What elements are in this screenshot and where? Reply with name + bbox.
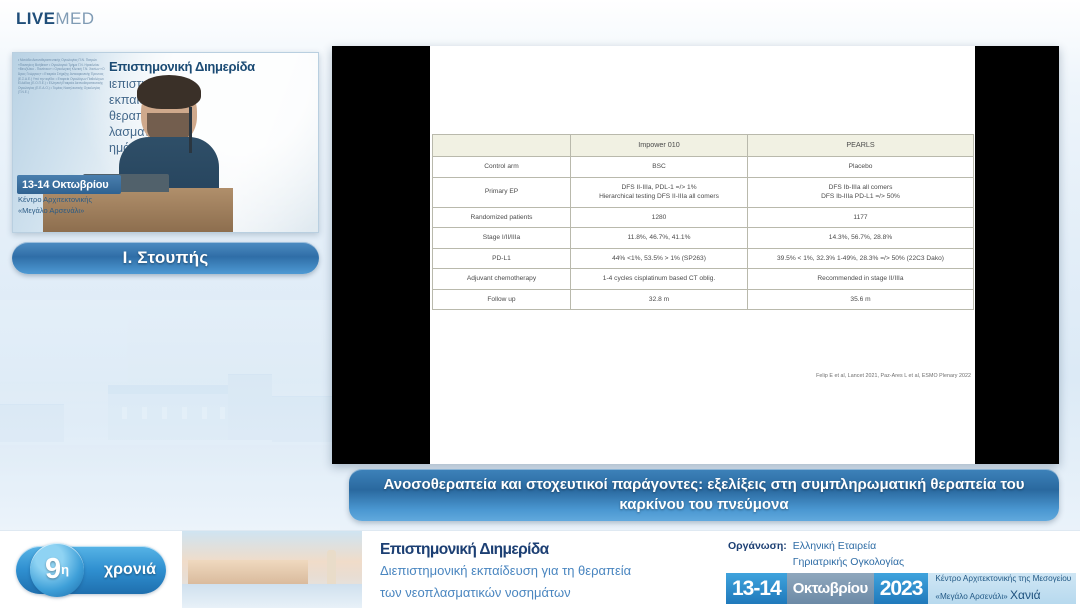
event-venue-city: Χανιά xyxy=(1010,588,1041,602)
event-date-badge: 13-14 Οκτωβρίου 2023 Κέντρο Αρχιτεκτονικ… xyxy=(726,573,1076,604)
row-pearls: Recommended in stage II/IIIa xyxy=(748,269,974,290)
row-impower: 1280 xyxy=(571,207,748,228)
row-label: PD-L1 xyxy=(433,248,571,269)
poster-venue-line1: Κέντρο Αρχιτεκτονικής xyxy=(18,194,92,205)
poster-venue: Κέντρο Αρχιτεκτονικής «Μεγάλο Αρσενάλι» xyxy=(18,194,92,217)
organizer-label: Οργάνωση: xyxy=(728,539,787,571)
poster-banner-title: Επιστημονική Διημερίδα xyxy=(109,59,312,76)
event-venue-line1: Κέντρο Αρχιτεκτονικής της Μεσογείου xyxy=(935,573,1076,585)
anniversary-number: 9η xyxy=(30,543,84,597)
poster-date: 13-14 Οκτωβρίου xyxy=(17,175,121,194)
anniversary-word: χρονιά xyxy=(104,561,156,579)
table-row: Randomized patients 1280 1177 xyxy=(433,207,974,228)
organizer-line2: Γηριατρικής Ογκολογίας xyxy=(793,556,904,568)
event-date-month: Οκτωβρίου xyxy=(787,573,874,604)
footer-organizer-block: Οργάνωση: Ελληνική Εταιρεία Γηριατρικής … xyxy=(722,531,1080,608)
row-impower: BSC xyxy=(571,157,748,178)
poster-organizers-list: • Μονάδα Ακτινοθεραπευτικής Ογκολογίας Π… xyxy=(18,58,106,95)
footer-bar: 9η χρονιά Επιστημονική Διημερίδα Διεπιστ… xyxy=(0,530,1080,608)
row-pearls: 35.6 m xyxy=(748,289,974,310)
footer-event-subtitle-line2: των νεοπλασματικών νοσημάτων xyxy=(380,584,722,603)
row-label: Follow up xyxy=(433,289,571,310)
table-row: Control arm BSC Placebo xyxy=(433,157,974,178)
row-label: Randomized patients xyxy=(433,207,571,228)
slide-viewer[interactable]: Impower 010 PEARLS Control arm BSC Place… xyxy=(332,46,1059,464)
row-label: Control arm xyxy=(433,157,571,178)
row-impower: 32.8 m xyxy=(571,289,748,310)
presentation-title-banner: Ανοσοθεραπεία και στοχευτικοί παράγοντες… xyxy=(349,469,1059,521)
footer-event-title: Επιστημονική Διημερίδα xyxy=(380,541,722,559)
row-label: Adjuvant chemotherapy xyxy=(433,269,571,290)
row-impower: DFS II-IIIa, PDL-1 =/> 1% Hierarchical t… xyxy=(571,177,748,207)
table-row: Follow up 32.8 m 35.6 m xyxy=(433,289,974,310)
row-label: Stage I/II/IIIa xyxy=(433,228,571,249)
footer-event-info: Επιστημονική Διημερίδα Διεπιστημονική εκ… xyxy=(362,531,722,608)
row-impower: 11.8%, 46.7%, 41.1% xyxy=(571,228,748,249)
event-date-year: 2023 xyxy=(874,573,929,604)
event-venue-line2a: «Μεγάλο Αρσενάλι» xyxy=(935,592,1007,601)
footer-harbour-photo xyxy=(182,531,362,608)
slide-citation: Felip E et al, Lancet 2021, Paz-Ares L e… xyxy=(816,373,971,379)
presentation-title: Ανοσοθεραπεία και στοχευτικοί παράγοντες… xyxy=(363,475,1045,515)
row-pearls: Placebo xyxy=(748,157,974,178)
event-venue: Κέντρο Αρχιτεκτονικής της Μεσογείου «Μεγ… xyxy=(928,573,1076,604)
slide-content: Impower 010 PEARLS Control arm BSC Place… xyxy=(430,46,975,464)
row-label: Primary EP xyxy=(433,177,571,207)
organizer-line1: Ελληνική Εταιρεία xyxy=(793,540,876,552)
table-row: Stage I/II/IIIa 11.8%, 46.7%, 41.1% 14.3… xyxy=(433,228,974,249)
brand-logo-primary: LIVE xyxy=(16,9,55,28)
microphone-icon xyxy=(189,107,192,153)
brand-logo-secondary: MED xyxy=(55,9,94,28)
speaker-card: • Μονάδα Ακτινοθεραπευτικής Ογκολογίας Π… xyxy=(12,52,319,274)
row-pearls: 39.5% < 1%, 32.3% 1-49%, 28.3% =/> 50% (… xyxy=(748,248,974,269)
table-row: Adjuvant chemotherapy 1-4 cycles cisplat… xyxy=(433,269,974,290)
comparison-table: Impower 010 PEARLS Control arm BSC Place… xyxy=(432,134,974,310)
table-header-cell-1: Impower 010 xyxy=(571,135,748,157)
table-row: PD-L1 44% <1%, 53.5% > 1% (SP263) 39.5% … xyxy=(433,248,974,269)
table-header-cell-2: PEARLS xyxy=(748,135,974,157)
row-pearls: 1177 xyxy=(748,207,974,228)
anniversary-ordinal: η xyxy=(61,562,69,577)
comparison-table-body: Impower 010 PEARLS Control arm BSC Place… xyxy=(433,135,974,310)
row-impower: 44% <1%, 53.5% > 1% (SP263) xyxy=(571,248,748,269)
row-pearls: DFS Ib-IIIa all comers DFS Ib-IIIa PD-L1… xyxy=(748,177,974,207)
footer-event-subtitle-line1: Διεπιστημονική εκπαίδευση για τη θεραπεί… xyxy=(380,562,722,581)
table-header-cell-0 xyxy=(433,135,571,157)
background-watermark xyxy=(0,300,340,530)
table-row: Primary EP DFS II-IIIa, PDL-1 =/> 1% Hie… xyxy=(433,177,974,207)
poster-venue-line2: «Μεγάλο Αρσενάλι» xyxy=(18,205,92,216)
speaker-video-player[interactable]: • Μονάδα Ακτινοθεραπευτικής Ογκολογίας Π… xyxy=(12,52,319,233)
speaker-name: Ι. Στουπής xyxy=(123,248,209,268)
organizer-names: Ελληνική Εταιρεία Γηριατρικής Ογκολογίας xyxy=(793,539,904,571)
event-date-days: 13-14 xyxy=(726,573,787,604)
row-pearls: 14.3%, 56.7%, 28.8% xyxy=(748,228,974,249)
anniversary-digit: 9 xyxy=(45,555,61,584)
brand-logo[interactable]: LIVEMED xyxy=(16,9,94,29)
speaker-name-banner: Ι. Στουπής xyxy=(12,242,319,274)
anniversary-logo: 9η χρονιά xyxy=(0,531,182,608)
table-header-row: Impower 010 PEARLS xyxy=(433,135,974,157)
row-impower: 1-4 cycles cisplatinum based CT oblig. xyxy=(571,269,748,290)
